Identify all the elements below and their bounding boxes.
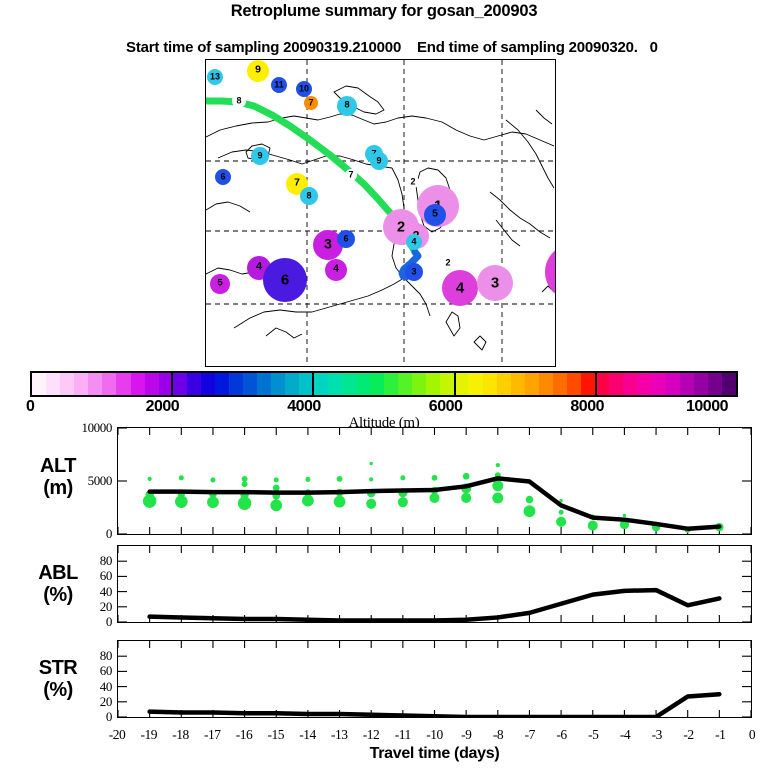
cluster-bubble: 13 [207, 69, 223, 85]
cluster-bubble-label: 6 [343, 234, 348, 243]
cluster-bubble: 5 [210, 274, 230, 294]
scatter-point [242, 476, 248, 482]
colorbar-cell [88, 373, 102, 395]
scatter-point [366, 499, 376, 509]
cluster-bubble: 2 [407, 176, 419, 188]
colorbar-cell [483, 373, 497, 395]
x-tick-label: -7 [514, 727, 546, 743]
cluster-bubble: 4 [325, 259, 347, 281]
x-tick-label: 0 [736, 727, 768, 743]
y-tick-label: 40 [40, 584, 112, 600]
cluster-bubble-label: 10 [299, 84, 309, 93]
cluster-bubble-label: 8 [344, 101, 349, 111]
colorbar-cell [680, 373, 694, 395]
colorbar-cell [102, 373, 116, 395]
cluster-bubble: 8 [337, 96, 357, 116]
end-time-value: 0 [650, 39, 658, 56]
x-tick-label: -9 [450, 727, 482, 743]
cluster-bubble: 3 [405, 263, 423, 281]
colorbar-tick-label: 10000 [686, 398, 728, 416]
x-axis-title: Travel time (days) [117, 745, 752, 763]
cluster-bubble-label: 11 [274, 80, 284, 89]
x-tick-label: -11 [387, 727, 419, 743]
colorbar-cell [440, 373, 454, 395]
colorbar-cell [651, 373, 665, 395]
x-tick-label: -14 [292, 727, 324, 743]
y-tick-label: 40 [40, 679, 112, 695]
colorbar-cell [581, 373, 595, 395]
map-graphics [206, 60, 554, 365]
colorbar-cell [257, 373, 271, 395]
cluster-bubble: 7 [345, 169, 357, 181]
scatter-point [369, 477, 373, 481]
scatter-point [274, 477, 279, 482]
x-tick-label: -15 [260, 727, 292, 743]
scatter-point [242, 481, 248, 487]
cluster-bubble-label: 13 [210, 72, 220, 81]
cluster-bubble: 6 [215, 169, 231, 185]
scatter-point [398, 497, 408, 507]
colorbar-cell [32, 373, 46, 395]
scatter-point [496, 463, 500, 467]
alt-chart-graphics [118, 428, 751, 534]
colorbar-cell [342, 373, 356, 395]
cluster-bubble: 7 [304, 96, 318, 110]
cluster-bubble-label: 6 [220, 172, 225, 181]
scatter-point [492, 493, 503, 504]
cluster-bubble: 11 [271, 77, 287, 93]
colorbar-cell [215, 373, 229, 395]
cluster-bubble-label: 3 [411, 267, 416, 276]
colorbar-cell [426, 373, 440, 395]
scatter-point [623, 514, 626, 517]
scatter-point [588, 520, 598, 530]
colorbar-cell [539, 373, 553, 395]
cluster-bubble-label: 4 [256, 262, 262, 273]
x-tick-label: -5 [577, 727, 609, 743]
altitude-colorbar[interactable]: 0200040006000800010000 Altitude (m) [30, 371, 738, 397]
cluster-bubble: 5 [424, 204, 446, 226]
colorbar-divider [312, 371, 314, 397]
cluster-bubble: 6 [263, 258, 307, 302]
colorbar-gradient [30, 371, 738, 397]
cluster-bubble: 8 [300, 187, 318, 205]
cluster-bubble-label: 4 [411, 237, 416, 246]
colorbar-cell [454, 373, 468, 395]
scatter-point [559, 510, 564, 515]
start-time-label: Start time of sampling 20090319.210000 [126, 39, 401, 56]
y-tick-label: 0 [40, 709, 112, 725]
cluster-bubble-label: 9 [376, 156, 381, 165]
colorbar-cell [609, 373, 623, 395]
colorbar-cell [497, 373, 511, 395]
colorbar-cell [356, 373, 370, 395]
cluster-bubble: 2 [441, 256, 455, 270]
colorbar-cell [708, 373, 722, 395]
x-tick-label: -16 [228, 727, 260, 743]
colorbar-cell [74, 373, 88, 395]
scatter-point [210, 477, 215, 482]
colorbar-tick-label: 8000 [570, 398, 604, 416]
colorbar-cell [511, 373, 525, 395]
str-chart-graphics [118, 641, 751, 717]
colorbar-cell [553, 373, 567, 395]
colorbar-cell [271, 373, 285, 395]
scatter-point [429, 493, 439, 503]
cluster-bubble-label: 4 [333, 264, 339, 274]
cluster-bubble-label: 5 [432, 209, 438, 219]
colorbar-cell [398, 373, 412, 395]
colorbar-cell [46, 373, 60, 395]
colorbar-cell [187, 373, 201, 395]
scatter-point [305, 477, 310, 482]
colorbar-tick-label: 2000 [146, 398, 180, 416]
cluster-bubble-label: 7 [348, 170, 353, 179]
cluster-bubble: 9 [251, 147, 269, 165]
y-tick-label: 80 [40, 648, 112, 664]
x-tick-label: -18 [165, 727, 197, 743]
x-tick-label: -2 [673, 727, 705, 743]
end-time-label: End time of sampling 20090320. [417, 39, 638, 56]
colorbar-divider [171, 371, 173, 397]
str-chart[interactable] [117, 640, 752, 718]
colorbar-tick-label: 0 [26, 398, 34, 416]
cluster-bubble: 9 [370, 152, 388, 170]
cluster-bubble: 4 [442, 270, 478, 306]
cluster-bubble: 8 [232, 94, 246, 108]
cluster-bubble-label: 6 [281, 272, 289, 287]
x-tick-label: -8 [482, 727, 514, 743]
colorbar-cell [370, 373, 384, 395]
colorbar-cell [201, 373, 215, 395]
colorbar-cell [525, 373, 539, 395]
x-tick-label: -3 [641, 727, 673, 743]
x-tick-label: -6 [546, 727, 578, 743]
cluster-bubble-label: 4 [456, 280, 464, 295]
colorbar-cell [412, 373, 426, 395]
y-tick-label: 20 [40, 694, 112, 710]
cluster-bubble-label: 7 [308, 98, 313, 107]
colorbar-cell [384, 373, 398, 395]
scatter-point [461, 493, 471, 503]
cluster-bubble-label: 2 [410, 177, 415, 186]
cluster-bubble-label: 9 [257, 151, 262, 160]
cluster-bubble-label: 8 [236, 96, 241, 105]
colorbar-cell [623, 373, 637, 395]
x-tick-label: -13 [323, 727, 355, 743]
x-tick-label: -1 [704, 727, 736, 743]
colorbar-cell [567, 373, 581, 395]
colorbar-divider [454, 371, 456, 397]
x-tick-label: -4 [609, 727, 641, 743]
abl-chart[interactable] [117, 545, 752, 623]
scatter-point [370, 462, 373, 465]
colorbar-cell [722, 373, 736, 395]
colorbar-tick-label: 4000 [287, 398, 321, 416]
cluster-bubble-label: 2 [445, 258, 450, 267]
scatter-point [334, 496, 346, 508]
retroplume-map[interactable]: 1391110788799787215622436464523435 [205, 59, 556, 367]
cluster-bubble: 9 [247, 60, 269, 82]
colorbar-cell [131, 373, 145, 395]
colorbar-cell [666, 373, 680, 395]
cluster-bubble-label: 5 [217, 279, 222, 289]
colorbar-cell [468, 373, 482, 395]
cluster-bubble: 6 [337, 230, 355, 248]
scatter-point [492, 480, 503, 491]
scatter-point [270, 500, 282, 512]
y-tick-label: 5000 [40, 473, 112, 489]
cluster-bubble: 4 [406, 234, 422, 250]
scatter-point [524, 505, 536, 517]
scatter-point [463, 473, 470, 480]
scatter-point [273, 485, 280, 492]
x-tick-label: -19 [133, 727, 165, 743]
colorbar-cell [173, 373, 187, 395]
y-tick-label: 0 [40, 614, 112, 630]
colorbar-cell [116, 373, 130, 395]
tick-marks [118, 641, 751, 717]
scatter-point [400, 475, 405, 480]
colorbar-tick-label: 6000 [429, 398, 463, 416]
y-tick-label: 80 [40, 553, 112, 569]
x-tick-label: -10 [419, 727, 451, 743]
colorbar-cell [694, 373, 708, 395]
y-tick-label: 20 [40, 599, 112, 615]
scatter-point [526, 496, 534, 504]
y-tick-label: 0 [40, 526, 112, 542]
y-tick-label: 60 [40, 568, 112, 584]
tick-marks [118, 546, 751, 622]
colorbar-cell [314, 373, 328, 395]
x-tick-label: -12 [355, 727, 387, 743]
abl-chart-graphics [118, 546, 751, 622]
alt-chart[interactable] [117, 427, 752, 535]
colorbar-cell [243, 373, 257, 395]
colorbar-cell [285, 373, 299, 395]
colorbar-cell [60, 373, 74, 395]
series-line [150, 478, 720, 528]
scatter-point [148, 477, 152, 481]
x-tick-label: -17 [196, 727, 228, 743]
cluster-bubble-label: 9 [255, 65, 261, 75]
y-tick-label: 10000 [40, 420, 112, 436]
x-tick-label: -20 [101, 727, 133, 743]
y-tick-label: 60 [40, 663, 112, 679]
cluster-bubble-label: 8 [306, 191, 311, 200]
colorbar-cell [145, 373, 159, 395]
scatter-point [556, 517, 566, 527]
scatter-point [432, 475, 438, 481]
colorbar-cell [328, 373, 342, 395]
scatter-point [337, 476, 343, 482]
colorbar-cell [637, 373, 651, 395]
page-title: Retroplume summary for gosan_200903 [0, 2, 768, 21]
scatter-point [207, 496, 219, 508]
scatter-point [179, 475, 184, 480]
colorbar-cell [229, 373, 243, 395]
cluster-bubble-label: 3 [324, 237, 332, 251]
cluster-bubble-label: 7 [294, 178, 300, 188]
cluster-bubble: 3 [477, 265, 513, 301]
cluster-bubble: 10 [296, 81, 312, 97]
colorbar-divider [595, 371, 597, 397]
cluster-bubble-label: 3 [491, 275, 499, 290]
